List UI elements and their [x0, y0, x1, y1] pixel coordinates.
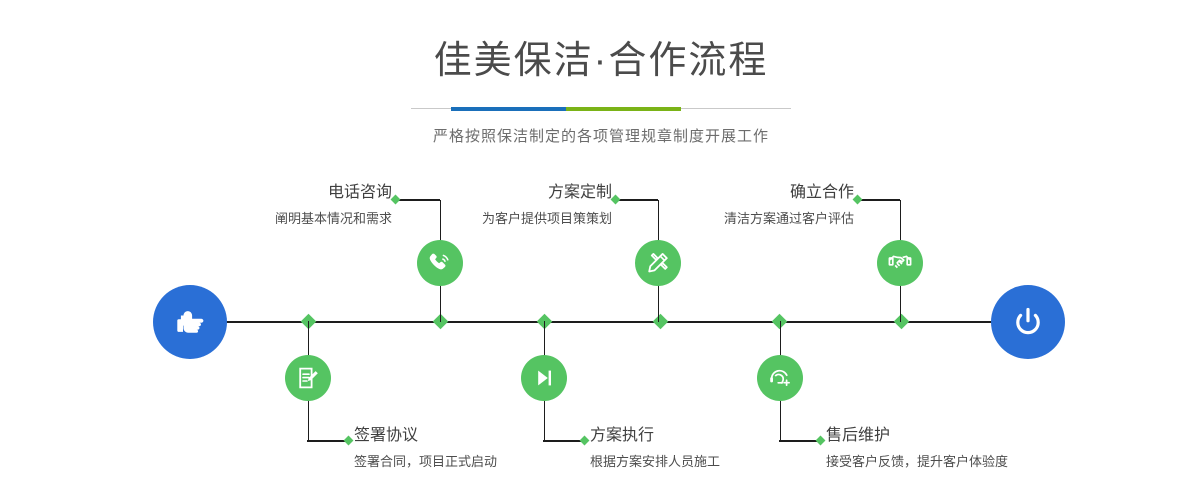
hand-pointing-icon: [170, 302, 210, 342]
step-title: 确立合作: [634, 185, 854, 201]
step-label-support: 售后维护 接受客户反馈，提升客户体验度: [826, 428, 1106, 468]
step-label-phone: 电话咨询 阐明基本情况和需求: [172, 185, 392, 225]
step-desc: 签署合同，项目正式启动: [354, 455, 614, 468]
headset-support-icon: [767, 365, 793, 391]
connector-tip: [344, 436, 354, 446]
step-title: 售后维护: [826, 428, 1106, 444]
step-label-plan: 方案定制 为客户提供项目策策划: [392, 185, 612, 225]
step-title: 电话咨询: [172, 185, 392, 201]
process-flow-infographic: 佳美保洁·合作流程 严格按照保洁制定的各项管理规章制度开展工作: [0, 0, 1202, 502]
phone-call-icon: [427, 250, 453, 276]
connector-tip: [611, 195, 621, 205]
play-execute-icon: [531, 365, 557, 391]
pencil-ruler-icon: [645, 250, 671, 276]
step-desc: 清洁方案通过客户评估: [634, 212, 854, 225]
handshake-icon: [887, 250, 913, 276]
flow-start-node[interactable]: [153, 285, 227, 359]
timeline: 电话咨询 阐明基本情况和需求 签署协议 签署合同，项目正式启动: [0, 0, 1202, 502]
step-node-execute[interactable]: [521, 355, 567, 401]
axis-marker: [653, 314, 669, 330]
step-desc: 根据方案安排人员施工: [590, 455, 850, 468]
flow-end-node[interactable]: [991, 285, 1065, 359]
step-node-phone[interactable]: [417, 240, 463, 286]
step-node-partnership[interactable]: [877, 240, 923, 286]
step-node-plan[interactable]: [635, 240, 681, 286]
step-label-partnership: 确立合作 清洁方案通过客户评估: [634, 185, 854, 225]
step-desc: 阐明基本情况和需求: [172, 212, 392, 225]
step-label-agreement: 签署协议 签署合同，项目正式启动: [354, 428, 614, 468]
connector-elbow: [858, 199, 900, 201]
step-title: 方案执行: [590, 428, 850, 444]
step-title: 签署协议: [354, 428, 614, 444]
step-desc: 接受客户反馈，提升客户体验度: [826, 455, 1106, 468]
power-icon: [1008, 302, 1048, 342]
step-desc: 为客户提供项目策策划: [392, 212, 612, 225]
step-node-support[interactable]: [757, 355, 803, 401]
step-node-agreement[interactable]: [285, 355, 331, 401]
step-title: 方案定制: [392, 185, 612, 201]
axis-marker: [894, 314, 910, 330]
connector-tip: [853, 195, 863, 205]
step-label-execute: 方案执行 根据方案安排人员施工: [590, 428, 850, 468]
document-edit-icon: [295, 365, 321, 391]
